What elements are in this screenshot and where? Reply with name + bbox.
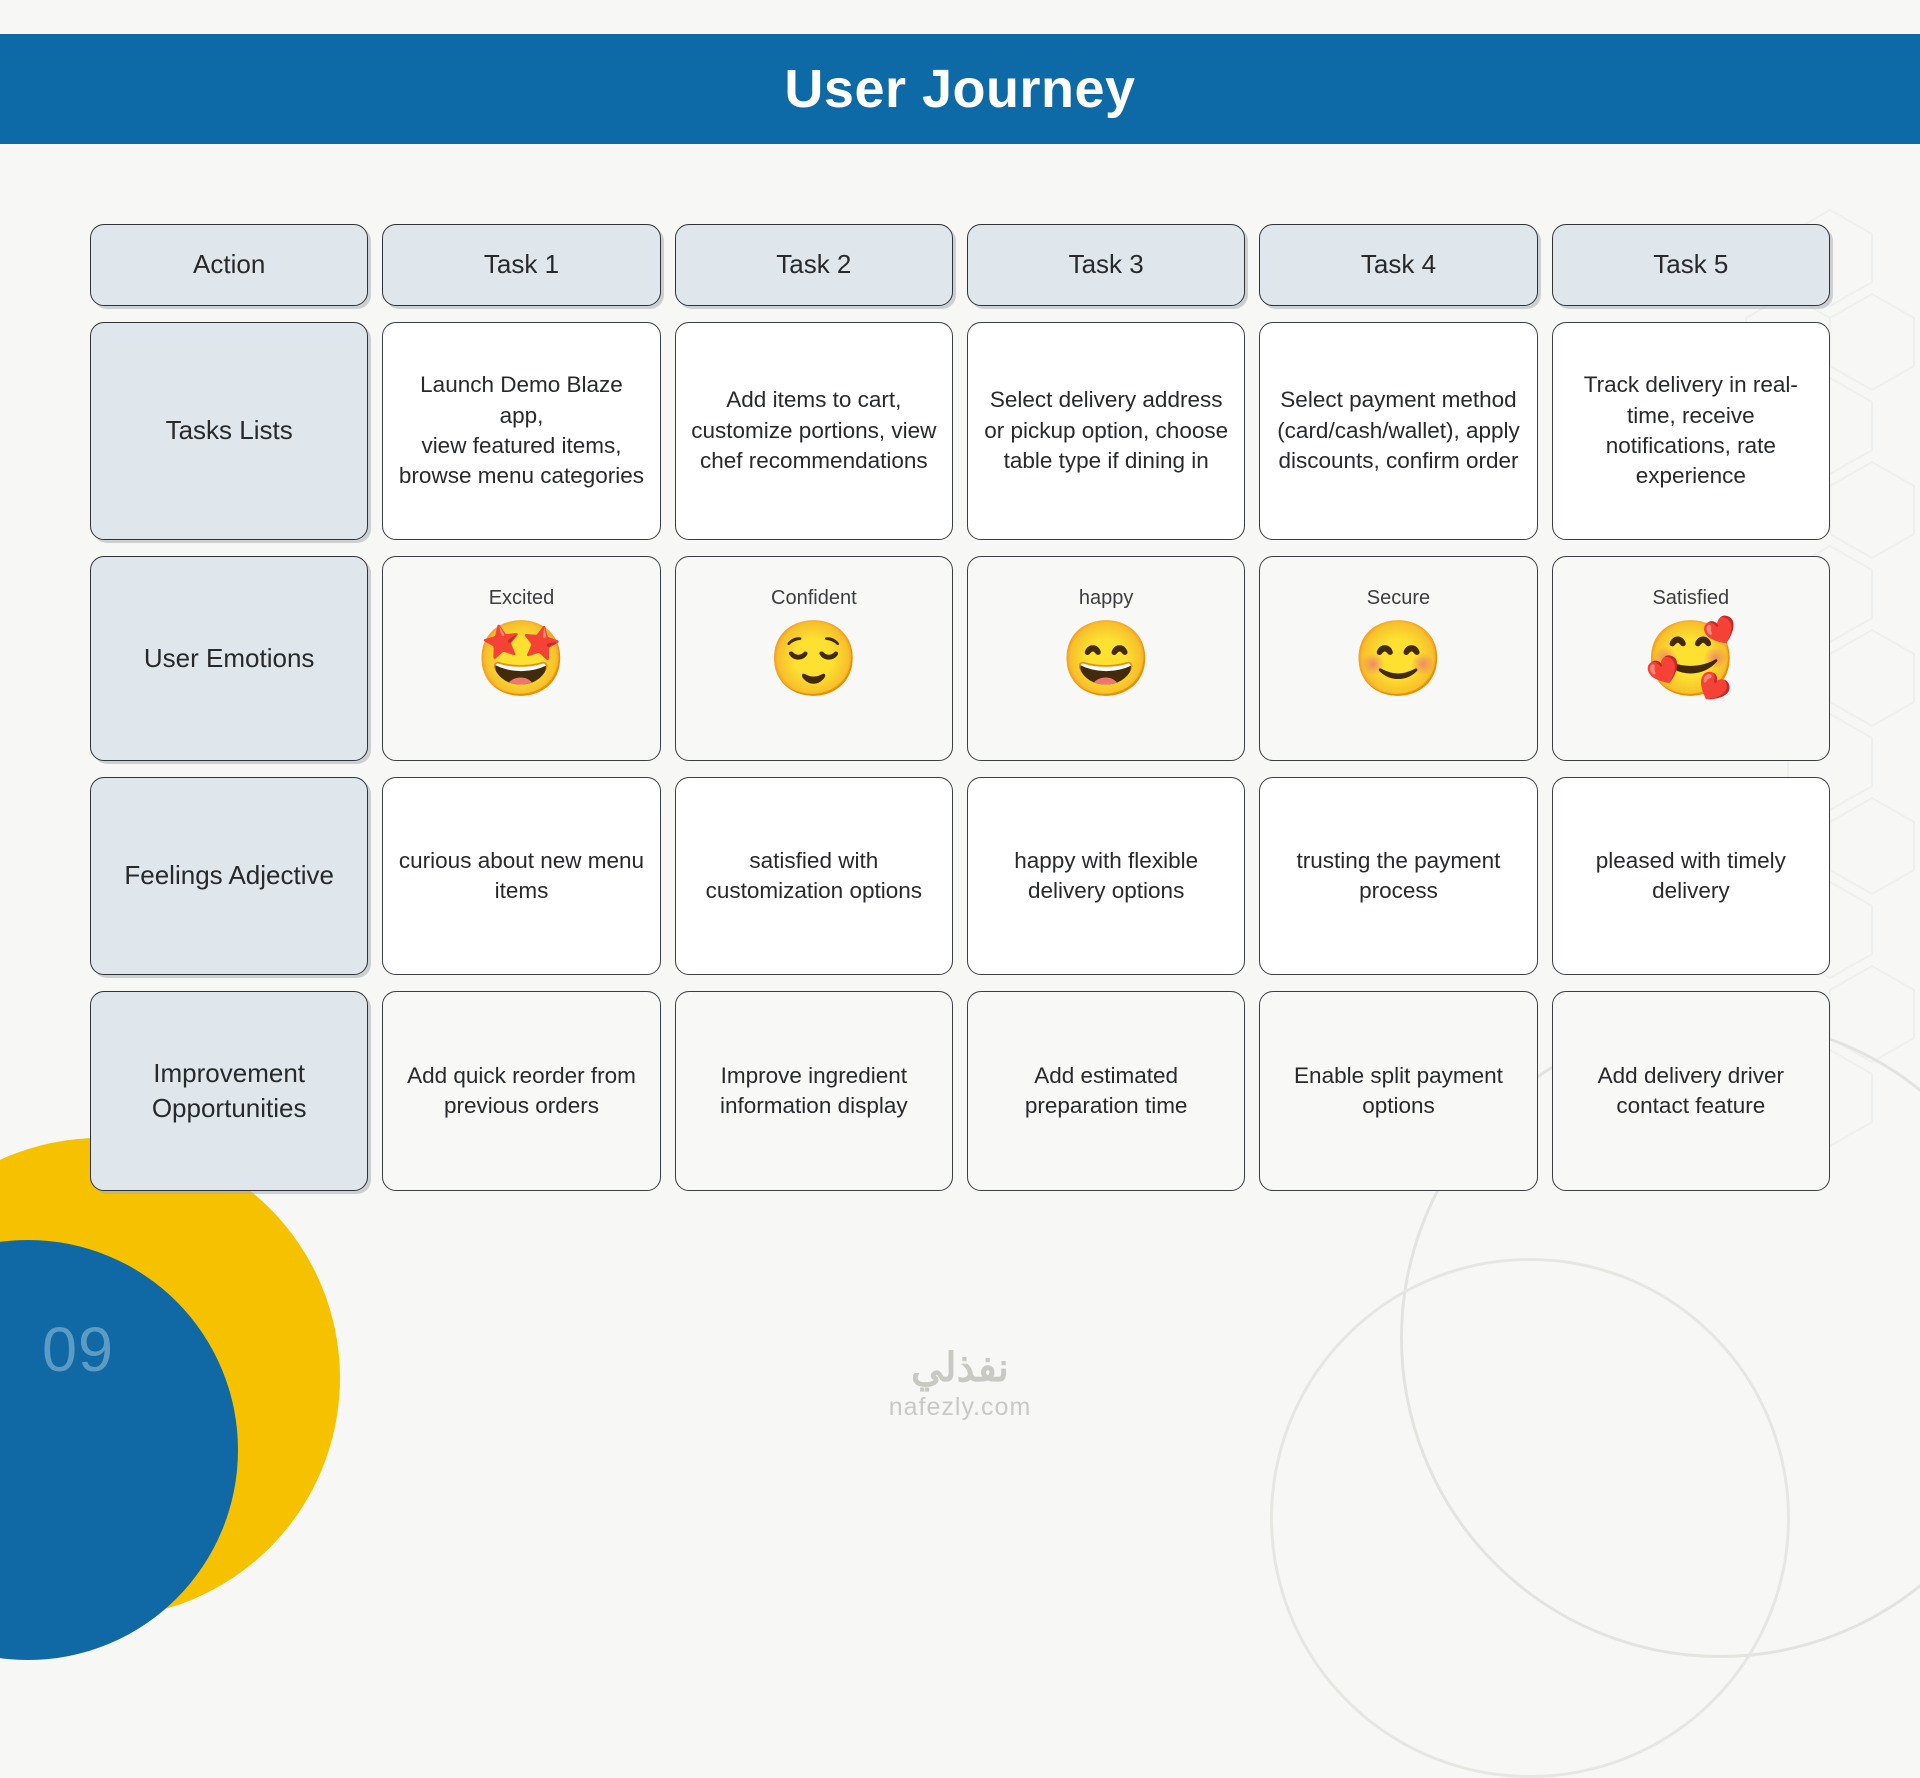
row-label-feelings-adjective: Feelings Adjective bbox=[90, 777, 368, 975]
improvement-cell-text: Improve ingredient information display bbox=[690, 1061, 938, 1122]
feelings-cell-3: happy with flexible delivery options bbox=[967, 777, 1245, 975]
improvement-cell-text: Add estimated preparation time bbox=[982, 1061, 1230, 1122]
improvement-cell-text: Add delivery driver contact feature bbox=[1567, 1061, 1815, 1122]
feelings-cell-text: happy with flexible delivery options bbox=[982, 846, 1230, 907]
column-header-action: Action bbox=[90, 224, 368, 306]
improvement-cell-4: Enable split payment options bbox=[1259, 991, 1537, 1191]
emotion-label: happy bbox=[1079, 585, 1134, 612]
emotion-label: Secure bbox=[1367, 585, 1430, 612]
column-header-label: Action bbox=[193, 247, 265, 282]
page-number: 09 bbox=[42, 1314, 114, 1386]
feelings-cell-text: trusting the payment process bbox=[1274, 846, 1522, 907]
column-header-label: Task 2 bbox=[776, 247, 851, 282]
page-title: User Journey bbox=[784, 58, 1135, 120]
emotion-cell-2: Confident 😌 bbox=[675, 556, 953, 761]
emotion-label: Excited bbox=[489, 585, 555, 612]
tasks-cell-text: Track delivery in real-time, receive not… bbox=[1567, 370, 1815, 492]
improvement-cell-text: Add quick reorder from previous orders bbox=[397, 1061, 645, 1122]
emotion-cell-3: happy 😄 bbox=[967, 556, 1245, 761]
row-label-user-emotions: User Emotions bbox=[90, 556, 368, 761]
emotion-label: Satisfied bbox=[1652, 585, 1729, 612]
feelings-cell-text: curious about new menu items bbox=[397, 846, 645, 907]
smiling-face-with-hearts-emoji: 🥰 bbox=[1645, 622, 1737, 696]
tasks-cell-text: Select payment method (card/cash/wallet)… bbox=[1274, 385, 1522, 476]
row-label-text: Feelings Adjective bbox=[124, 858, 334, 893]
star-struck-emoji: 🤩 bbox=[475, 622, 567, 696]
improvement-cell-text: Enable split payment options bbox=[1274, 1061, 1522, 1122]
improvement-cell-1: Add quick reorder from previous orders bbox=[382, 991, 660, 1191]
tasks-cell-5: Track delivery in real-time, receive not… bbox=[1552, 322, 1830, 540]
row-label-text: User Emotions bbox=[144, 641, 315, 676]
column-header-label: Task 3 bbox=[1069, 247, 1144, 282]
watermark-site-text: nafezly.com bbox=[889, 1393, 1032, 1422]
emotion-cell-1: Excited 🤩 bbox=[382, 556, 660, 761]
relieved-face-emoji: 😌 bbox=[768, 622, 860, 696]
arc-decoration-inner bbox=[1270, 1258, 1790, 1778]
row-label-improvement-opportunities: Improvement Opportunities bbox=[90, 991, 368, 1191]
emotion-cell-4: Secure 😊 bbox=[1259, 556, 1537, 761]
column-header-label: Task 1 bbox=[484, 247, 559, 282]
row-label-text: Tasks Lists bbox=[166, 413, 293, 448]
feelings-cell-text: pleased with timely delivery bbox=[1567, 846, 1815, 907]
tasks-cell-1: Launch Demo Blaze app, view featured ite… bbox=[382, 322, 660, 540]
emotion-label: Confident bbox=[771, 585, 857, 612]
column-header-task-3: Task 3 bbox=[967, 224, 1245, 306]
column-header-label: Task 4 bbox=[1361, 247, 1436, 282]
watermark-arabic-text: نفذلي bbox=[911, 1345, 1009, 1391]
row-label-text: Improvement Opportunities bbox=[105, 1056, 353, 1126]
smiling-face-emoji: 😊 bbox=[1352, 622, 1444, 696]
feelings-cell-4: trusting the payment process bbox=[1259, 777, 1537, 975]
feelings-cell-2: satisfied with customization options bbox=[675, 777, 953, 975]
user-journey-table: Action Task 1 Task 2 Task 3 Task 4 Task … bbox=[90, 224, 1830, 1191]
tasks-cell-2: Add items to cart, customize portions, v… bbox=[675, 322, 953, 540]
improvement-cell-2: Improve ingredient information display bbox=[675, 991, 953, 1191]
column-header-task-1: Task 1 bbox=[382, 224, 660, 306]
column-header-task-4: Task 4 bbox=[1259, 224, 1537, 306]
tasks-cell-text: Select delivery address or pickup option… bbox=[982, 385, 1230, 476]
column-header-label: Task 5 bbox=[1653, 247, 1728, 282]
row-label-tasks-lists: Tasks Lists bbox=[90, 322, 368, 540]
tasks-cell-text: Launch Demo Blaze app, view featured ite… bbox=[397, 370, 645, 492]
improvement-cell-5: Add delivery driver contact feature bbox=[1552, 991, 1830, 1191]
title-bar: User Journey bbox=[0, 34, 1920, 144]
column-header-task-2: Task 2 bbox=[675, 224, 953, 306]
column-header-task-5: Task 5 bbox=[1552, 224, 1830, 306]
feelings-cell-1: curious about new menu items bbox=[382, 777, 660, 975]
emotion-cell-5: Satisfied 🥰 bbox=[1552, 556, 1830, 761]
feelings-cell-text: satisfied with customization options bbox=[690, 846, 938, 907]
tasks-cell-3: Select delivery address or pickup option… bbox=[967, 322, 1245, 540]
tasks-cell-4: Select payment method (card/cash/wallet)… bbox=[1259, 322, 1537, 540]
grinning-face-emoji: 😄 bbox=[1060, 622, 1152, 696]
improvement-cell-3: Add estimated preparation time bbox=[967, 991, 1245, 1191]
feelings-cell-5: pleased with timely delivery bbox=[1552, 777, 1830, 975]
tasks-cell-text: Add items to cart, customize portions, v… bbox=[690, 385, 938, 476]
